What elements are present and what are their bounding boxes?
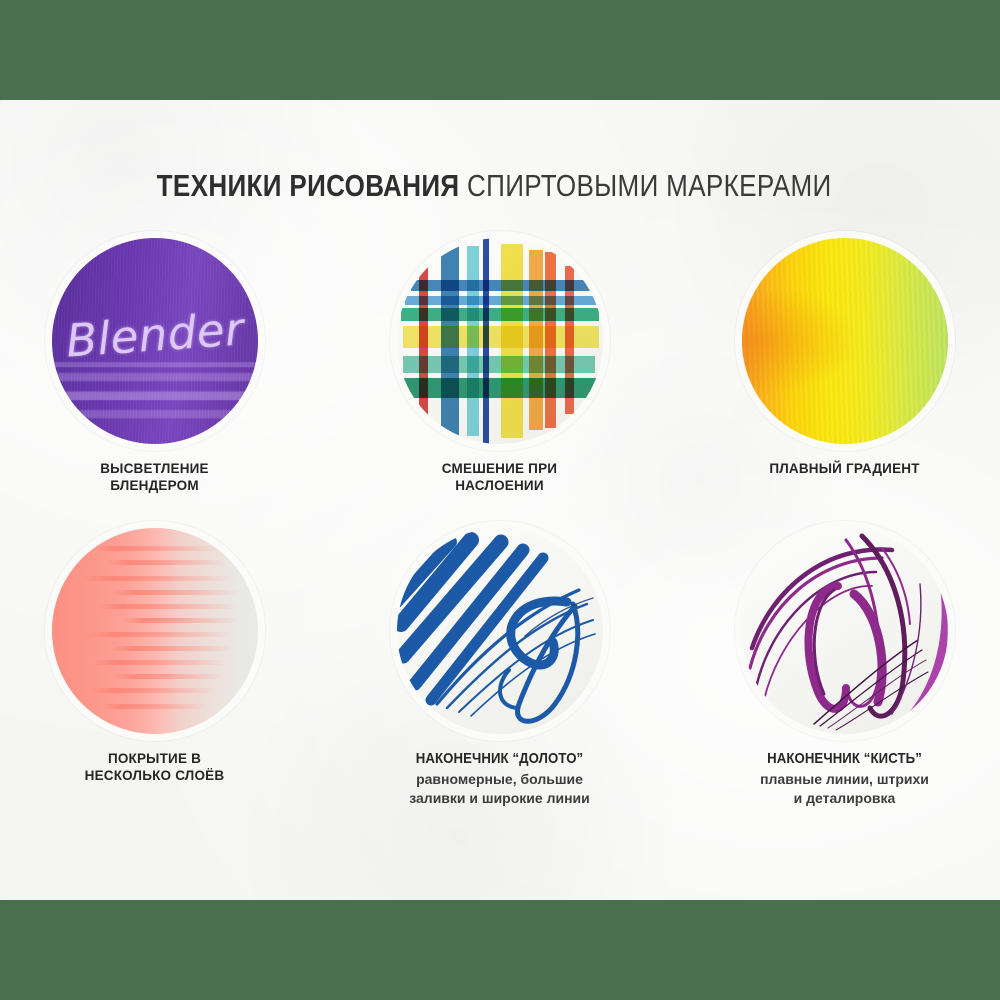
bottom-green-band [0, 900, 1000, 1000]
caption-sub-line-1: плавные линии, штрихи [678, 770, 1000, 788]
caption-line-1: ВЫСВЕТЛЕНИЕ [0, 460, 321, 477]
caption-line-1: ПОКРЫТИЕ В [0, 750, 321, 767]
technique-cell-smooth-gradient: ПЛАВНЫЙ ГРАДИЕНТ [678, 238, 1000, 477]
title-light: СПИРТОВЫМИ МАРКЕРАМИ [467, 168, 832, 204]
caption-line-1: СМЕШЕНИЕ ПРИ [333, 460, 666, 477]
swatch-disc [742, 238, 948, 444]
caption-sub-line-2: и деталировка [678, 789, 1000, 807]
caption-brush-nib: НАКОНЕЧНИК “КИСТЬ” плавные линии, штрихи… [678, 750, 1000, 807]
caption-line-2: БЛЕНДЕРОМ [0, 477, 321, 494]
caption-sub-line-1: равномерные, большие [333, 770, 666, 788]
technique-cell-chisel-nib: НАКОНЕЧНИК “ДОЛОТО” равномерные, большие… [333, 528, 666, 807]
layer-streak [90, 688, 218, 693]
technique-cell-brush-nib: НАКОНЕЧНИК “КИСТЬ” плавные линии, штрихи… [678, 528, 1000, 807]
swatch-layer-blending [397, 238, 603, 444]
caption-sub-line-2: заливки и широкие линии [333, 789, 666, 807]
layer-streak [87, 632, 233, 637]
layer-streak [82, 576, 232, 581]
caption-line-2: НЕСКОЛЬКО СЛОЁВ [0, 767, 321, 784]
hatch-stroke-horizontal [411, 280, 593, 291]
caption-line-1: ПЛАВНЫЙ ГРАДИЕНТ [678, 460, 1000, 477]
blender-script-text: Blender [52, 301, 258, 368]
caption-heading: НАКОНЕЧНИК “КИСТЬ” [698, 750, 991, 769]
layer-streak [107, 560, 227, 565]
swatch-disc [397, 528, 603, 734]
brush-fill-shape [902, 572, 948, 724]
layer-streak [92, 546, 222, 551]
swatch-brush-nib [742, 528, 948, 734]
title-strong: ТЕХНИКИ РИСОВАНИЯ [157, 168, 460, 204]
chisel-strokes [397, 528, 603, 734]
caption-blender: ВЫСВЕТЛЕНИЕ БЛЕНДЕРОМ [0, 460, 321, 495]
top-green-band [0, 0, 1000, 100]
caption-layer-blending: СМЕШЕНИЕ ПРИ НАСЛОЕНИИ [333, 460, 666, 495]
layer-streak [114, 674, 224, 679]
hatch-stroke-horizontal [403, 356, 595, 373]
layer-streak [112, 590, 240, 595]
caption-smooth-gradient: ПЛАВНЫЙ ГРАДИЕНТ [678, 460, 1000, 477]
hatch-stroke-horizontal [403, 326, 599, 348]
infographic-page: ТЕХНИКИ РИСОВАНИЯСПИРТОВЫМИ МАРКЕРАМИ Bl… [0, 0, 1000, 1000]
swatch-chisel-nib [397, 528, 603, 734]
hatch-stroke-horizontal [401, 378, 599, 398]
hatch-stroke-horizontal [405, 296, 597, 305]
caption-chisel-nib: НАКОНЕЧНИК “ДОЛОТО” равномерные, большие… [333, 750, 666, 807]
layer-streak [97, 604, 239, 609]
hatch-stroke-horizontal [401, 308, 599, 321]
layer-streak [110, 646, 234, 651]
swatch-disc [742, 528, 948, 734]
technique-cell-blender: Blender ВЫСВЕТЛЕНИЕ БЛЕНДЕРОМ [0, 238, 321, 495]
layer-streak [122, 618, 240, 623]
technique-cell-multiple-layers: ПОКРЫТИЕ В НЕСКОЛЬКО СЛОЁВ [0, 528, 321, 785]
caption-line-2: НАСЛОЕНИИ [333, 477, 666, 494]
swatch-multiple-layers [52, 528, 258, 734]
swatch-disc: Blender [52, 238, 258, 444]
caption-multiple-layers: ПОКРЫТИЕ В НЕСКОЛЬКО СЛОЁВ [0, 750, 321, 785]
swatch-disc [397, 238, 603, 444]
technique-cell-layer-blending: СМЕШЕНИЕ ПРИ НАСЛОЕНИИ [333, 238, 666, 495]
swatch-blender: Blender [52, 238, 258, 444]
page-title: ТЕХНИКИ РИСОВАНИЯСПИРТОВЫМИ МАРКЕРАМИ [0, 168, 1000, 204]
swatch-disc [52, 528, 258, 734]
layer-streak [92, 660, 228, 665]
caption-heading: НАКОНЕЧНИК “ДОЛОТО” [353, 750, 646, 769]
brush-strokes [742, 528, 948, 734]
layer-streak [102, 704, 206, 709]
swatch-smooth-gradient [742, 238, 948, 444]
